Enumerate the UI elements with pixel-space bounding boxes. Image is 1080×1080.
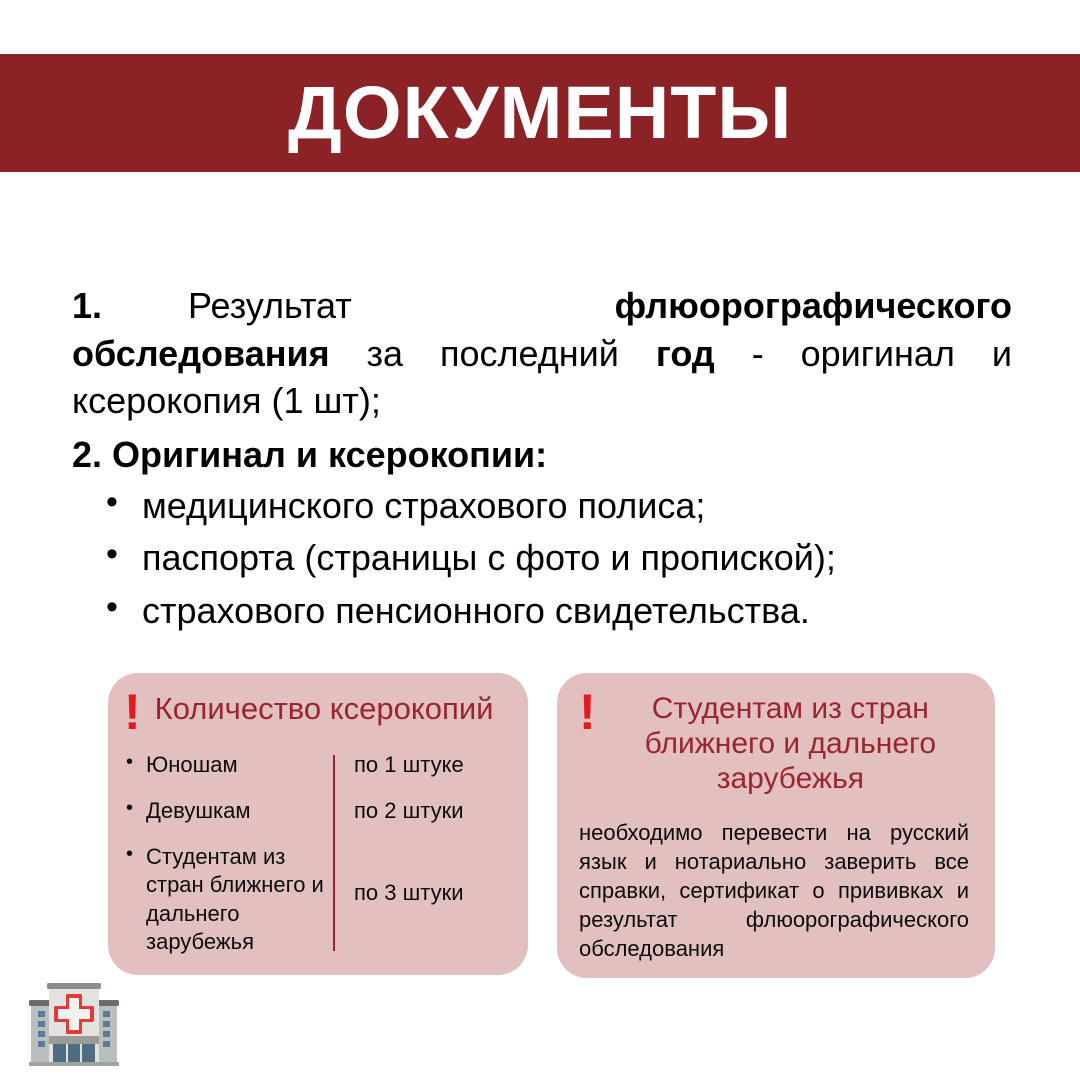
exclamation-icon: ! bbox=[579, 689, 596, 735]
table-divider bbox=[333, 755, 335, 951]
row-label: Юношам bbox=[124, 751, 324, 779]
item1-text-bold-2: год bbox=[656, 333, 715, 374]
copies-count-card: ! Количество ксерокопий Юношам по 1 штук… bbox=[108, 673, 528, 975]
requirement-item-1: 1.Результат флюорографического обследова… bbox=[72, 282, 1012, 425]
hospital-icon bbox=[22, 968, 126, 1072]
list-item: медицинского страхового полиса; bbox=[106, 482, 1012, 530]
foreign-students-card: ! Студентам из стран ближнего и дальнего… bbox=[557, 673, 995, 978]
row-value: по 3 штуки bbox=[324, 843, 464, 907]
row-label: Студентам из стран ближнего и дальнего з… bbox=[124, 843, 324, 956]
item1-text-c: за последний bbox=[330, 333, 656, 374]
foreign-students-card-header: ! Студентам из стран ближнего и дальнего… bbox=[579, 691, 969, 796]
exclamation-icon: ! bbox=[124, 689, 141, 735]
document-body: 1.Результат флюорографического обследова… bbox=[72, 282, 1012, 639]
foreign-students-card-body: необходимо перевести на русский язык и н… bbox=[579, 818, 969, 963]
foreign-students-card-title: Студентам из стран ближнего и дальнего з… bbox=[612, 691, 969, 796]
table-row: Девушкам по 2 штуки bbox=[124, 797, 508, 825]
row-value: по 1 штуке bbox=[324, 751, 464, 779]
page-title: ДОКУМЕНТЫ bbox=[288, 76, 792, 150]
table-row: Студентам из стран ближнего и дальнего з… bbox=[124, 843, 508, 956]
copies-count-card-header: ! Количество ксерокопий bbox=[124, 691, 508, 735]
item-number: 1. bbox=[72, 285, 102, 326]
list-item: паспорта (страницы с фото и пропиской); bbox=[106, 534, 1012, 582]
list-item: страхового пенсионного свидетельства. bbox=[106, 587, 1012, 635]
row-value: по 2 штуки bbox=[324, 797, 464, 825]
copies-count-table: Юношам по 1 штуке Девушкам по 2 штуки Ст… bbox=[124, 751, 508, 956]
copies-count-card-title: Количество ксерокопий bbox=[155, 691, 494, 726]
header-banner: ДОКУМЕНТЫ bbox=[0, 54, 1080, 172]
row-label: Девушкам bbox=[124, 797, 324, 825]
requirement-item-2-heading: 2. Оригинал и ксерокопии: bbox=[72, 431, 1012, 479]
item1-text-a: Результат bbox=[188, 285, 615, 326]
document-bullet-list: медицинского страхового полиса; паспорта… bbox=[72, 482, 1012, 635]
table-row: Юношам по 1 штуке bbox=[124, 751, 508, 779]
